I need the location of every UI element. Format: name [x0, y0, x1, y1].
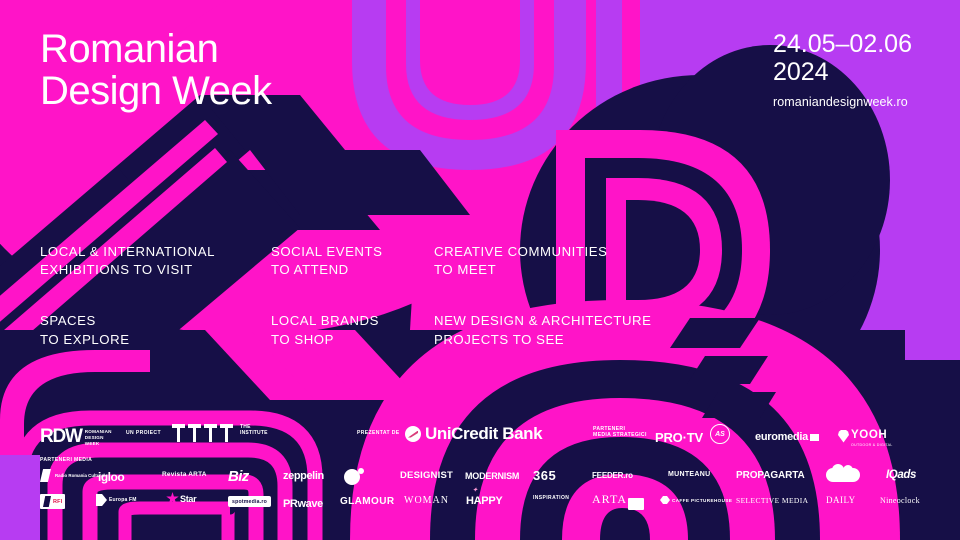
- logo-nineoclock: Nineoclock: [880, 496, 920, 505]
- rdw-wordmark: RDW: [40, 426, 82, 448]
- logo-365: 365: [533, 468, 556, 483]
- logo-arta: ARTA: [592, 492, 627, 507]
- feature-item: LOCAL BRANDS TO SHOP: [271, 312, 434, 348]
- yooh-pin-icon: [838, 430, 849, 443]
- feature-item: SPACES TO EXPLORE: [40, 312, 271, 348]
- label-parteneri-media-strategici: PARTENERI MEDIA STRATEGICI: [593, 426, 647, 439]
- logo-yooh: YOOH OUTDOOR & DIGITAL: [838, 425, 893, 447]
- star-icon: [166, 492, 179, 505]
- institute-name: THE INSTITUTE: [240, 424, 268, 437]
- logo-zeppelin: zeppelin: [283, 470, 324, 482]
- arta-text: ARTA: [592, 492, 627, 507]
- feature-item: NEW DESIGN & ARCHITECTURE PROJECTS TO SE…: [434, 312, 724, 348]
- logo-protv: PRO·TV: [655, 430, 703, 445]
- page-title: Romanian Design Week: [40, 28, 272, 113]
- date-year: 2024: [773, 58, 912, 86]
- unicredit-mark-icon: [405, 426, 421, 442]
- logo-as: AS: [710, 424, 730, 444]
- logo-feeder-ro: FEEDER.ro: [592, 471, 633, 480]
- institute-t-mark-icon: [220, 424, 233, 442]
- event-dates: 24.05–02.06 2024 romaniandesignweek.ro: [773, 30, 912, 109]
- logo-inspiration: INSPIRATION: [533, 495, 569, 502]
- logo-selective-media: SELECTIVE MEDIA: [736, 496, 808, 505]
- institute-t-mark-icon: [204, 424, 217, 442]
- yooh-text: YOOH: [851, 429, 887, 441]
- yooh-subtitle: OUTDOOR & DIGITAL: [851, 443, 893, 447]
- euromedia-text: euromedia: [755, 431, 808, 443]
- logo-europa-fm: Europa FM: [96, 494, 137, 506]
- logo-igloo: igloo: [98, 470, 124, 484]
- logo-munteanu: MUNTEANU: [668, 471, 710, 478]
- institute-t-mark-icon: [188, 424, 201, 442]
- feature-column-1: LOCAL & INTERNATIONAL EXHIBITIONS TO VIS…: [40, 243, 271, 349]
- prwave-text: PRwave: [283, 498, 323, 510]
- logo-daily: DAILY: [826, 495, 856, 505]
- feature-list: LOCAL & INTERNATIONAL EXHIBITIONS TO VIS…: [40, 243, 730, 349]
- logo-propagarta: PROPAGARTA: [736, 470, 805, 481]
- feature-item: SOCIAL EVENTS TO ATTEND: [271, 243, 434, 279]
- logo-rfi: RFI: [40, 494, 65, 509]
- date-range: 24.05–02.06: [773, 30, 912, 58]
- as-text: AS: [715, 431, 725, 438]
- logo-modernism: MODERNISM: [465, 471, 519, 481]
- feature-item: CREATIVE COMMUNITIES TO MEET: [434, 243, 724, 279]
- logo-caffe-picturehouse: CAFFE PICTUREHOUSE: [660, 496, 732, 504]
- logo-iqads: IQads: [886, 469, 916, 481]
- logo-spotmedia: spotmedia.ro: [228, 496, 271, 507]
- logo-radio-romania-cultural: Radio Romania Cultural: [40, 469, 105, 482]
- institute-t-mark-icon: [172, 424, 185, 442]
- logo-revista-arta: Revista ARTA: [162, 471, 207, 479]
- europa-fm-text: Europa FM: [109, 497, 137, 503]
- poster-canvas: Romanian Design Week 24.05–02.06 2024 ro…: [0, 0, 960, 540]
- radio-slash-icon: [40, 469, 51, 482]
- label-un-proiect: UN PROIECT: [126, 430, 161, 436]
- logo-biz: Biz: [228, 468, 249, 485]
- happy-text: HAPPY: [466, 495, 502, 507]
- logo-euromedia: euromedia: [755, 431, 819, 443]
- logo-happy: ✦ HAPPY: [466, 488, 502, 509]
- feature-column-3: CREATIVE COMMUNITIES TO MEET NEW DESIGN …: [434, 243, 724, 349]
- logo-iqos-box: [628, 498, 644, 510]
- feature-item: LOCAL & INTERNATIONAL EXHIBITIONS TO VIS…: [40, 243, 271, 279]
- sponsor-footer: RDW ROMANIAN DESIGN WEEK UN PROIECT THE …: [0, 412, 960, 540]
- logo-glamour: GLAMOUR: [340, 496, 394, 507]
- logo-designist: DESIGNIST: [400, 470, 453, 481]
- rdw-logo: RDW ROMANIAN DESIGN WEEK: [40, 426, 112, 448]
- logo-dot-mark: [344, 469, 360, 485]
- label-prezentat-de: PREZENTAT DE: [357, 430, 400, 436]
- rfi-text: RFI: [53, 499, 62, 505]
- caffe-text: CAFFE PICTUREHOUSE: [672, 498, 732, 503]
- logo-prwave: PRwave: [283, 494, 323, 512]
- label-parteneri-media: PARTENERI MEDIA: [40, 457, 92, 463]
- logo-star: Star: [166, 492, 196, 505]
- euromedia-square-icon: [810, 434, 819, 441]
- unicredit-name: UniCredit Bank: [425, 424, 542, 443]
- unicredit-bank-logo: UniCredit Bank: [405, 424, 542, 444]
- star-text: Star: [180, 494, 196, 504]
- logo-cloud-mark: [826, 468, 860, 482]
- rdw-subtitle: ROMANIAN DESIGN WEEK: [85, 429, 112, 447]
- logo-woman: WOMAN: [404, 495, 449, 506]
- the-institute-logo: THE INSTITUTE: [172, 424, 268, 442]
- feature-column-2: SOCIAL EVENTS TO ATTEND LOCAL BRANDS TO …: [271, 243, 434, 349]
- website-url[interactable]: romaniandesignweek.ro: [773, 95, 912, 109]
